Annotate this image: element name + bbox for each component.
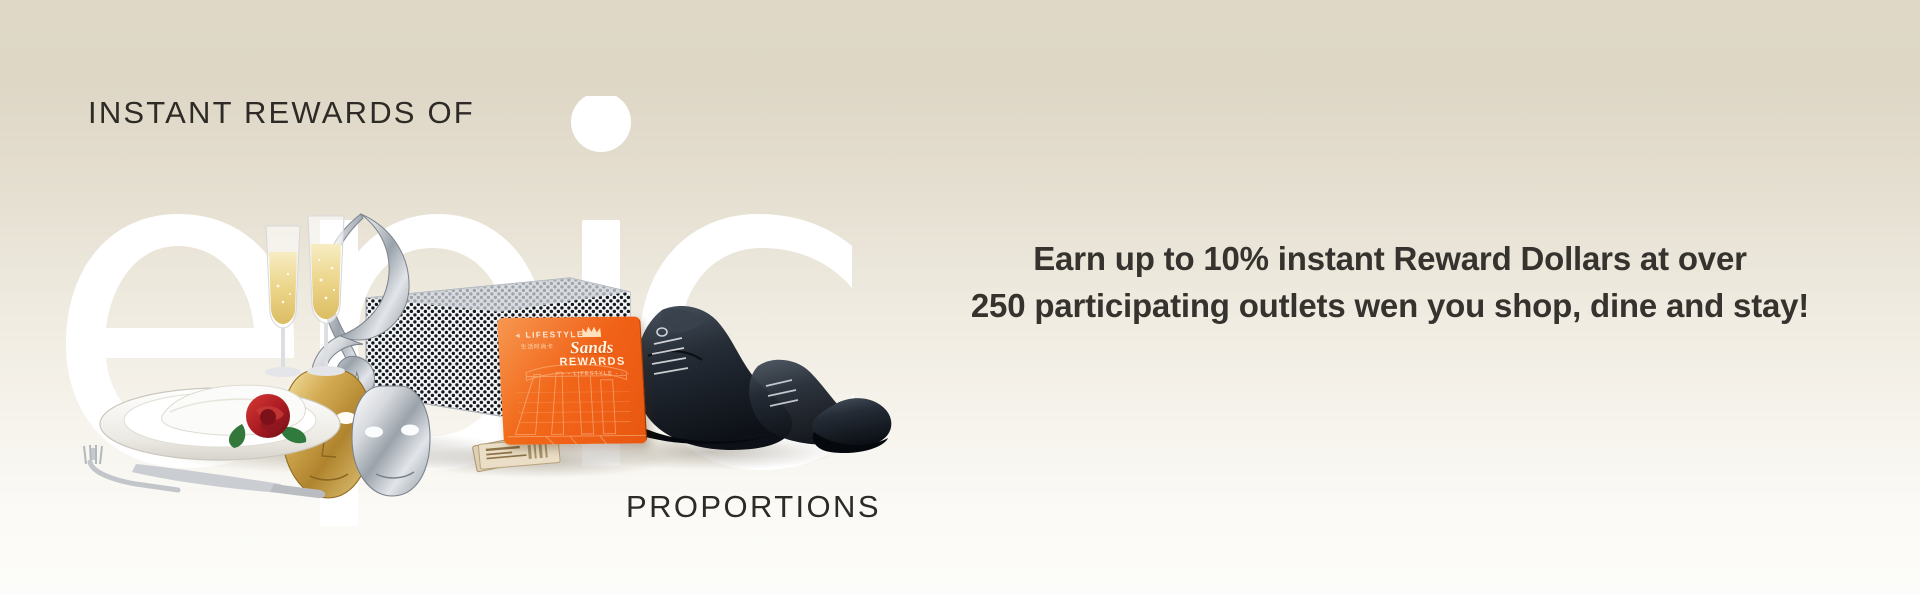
card-bullet-icon: ◄ [514,333,523,340]
page-title: INSTANT REWARDS OF [88,95,475,131]
card-brand-name: Sands [550,339,633,357]
promo-copy-line-1: Earn up to 10% instant Reward Dollars at… [940,236,1840,283]
card-tier-label-cjk: 生活时尚卡 [520,341,554,350]
card-program-name: REWARDS [551,356,634,371]
crown-icon [580,326,602,338]
promo-banner: INSTANT REWARDS OF PROPORTIONS Earn up t… [0,0,1920,595]
dress-shoes [635,306,891,453]
promo-copy: Earn up to 10% instant Reward Dollars at… [940,236,1840,330]
card-program-sub: - - - LIFESTYLE - - - [552,370,634,377]
card-brand-lockup: Sands REWARDS - - - LIFESTYLE - - - [550,326,635,378]
promo-copy-line-2: 250 participating outlets wen you shop, … [940,283,1840,330]
theatre-mask-silver [352,386,430,496]
sands-rewards-card[interactable]: ◄LIFESTYLE 生活时尚卡 Sands REWARDS - - - LIF… [497,317,647,445]
